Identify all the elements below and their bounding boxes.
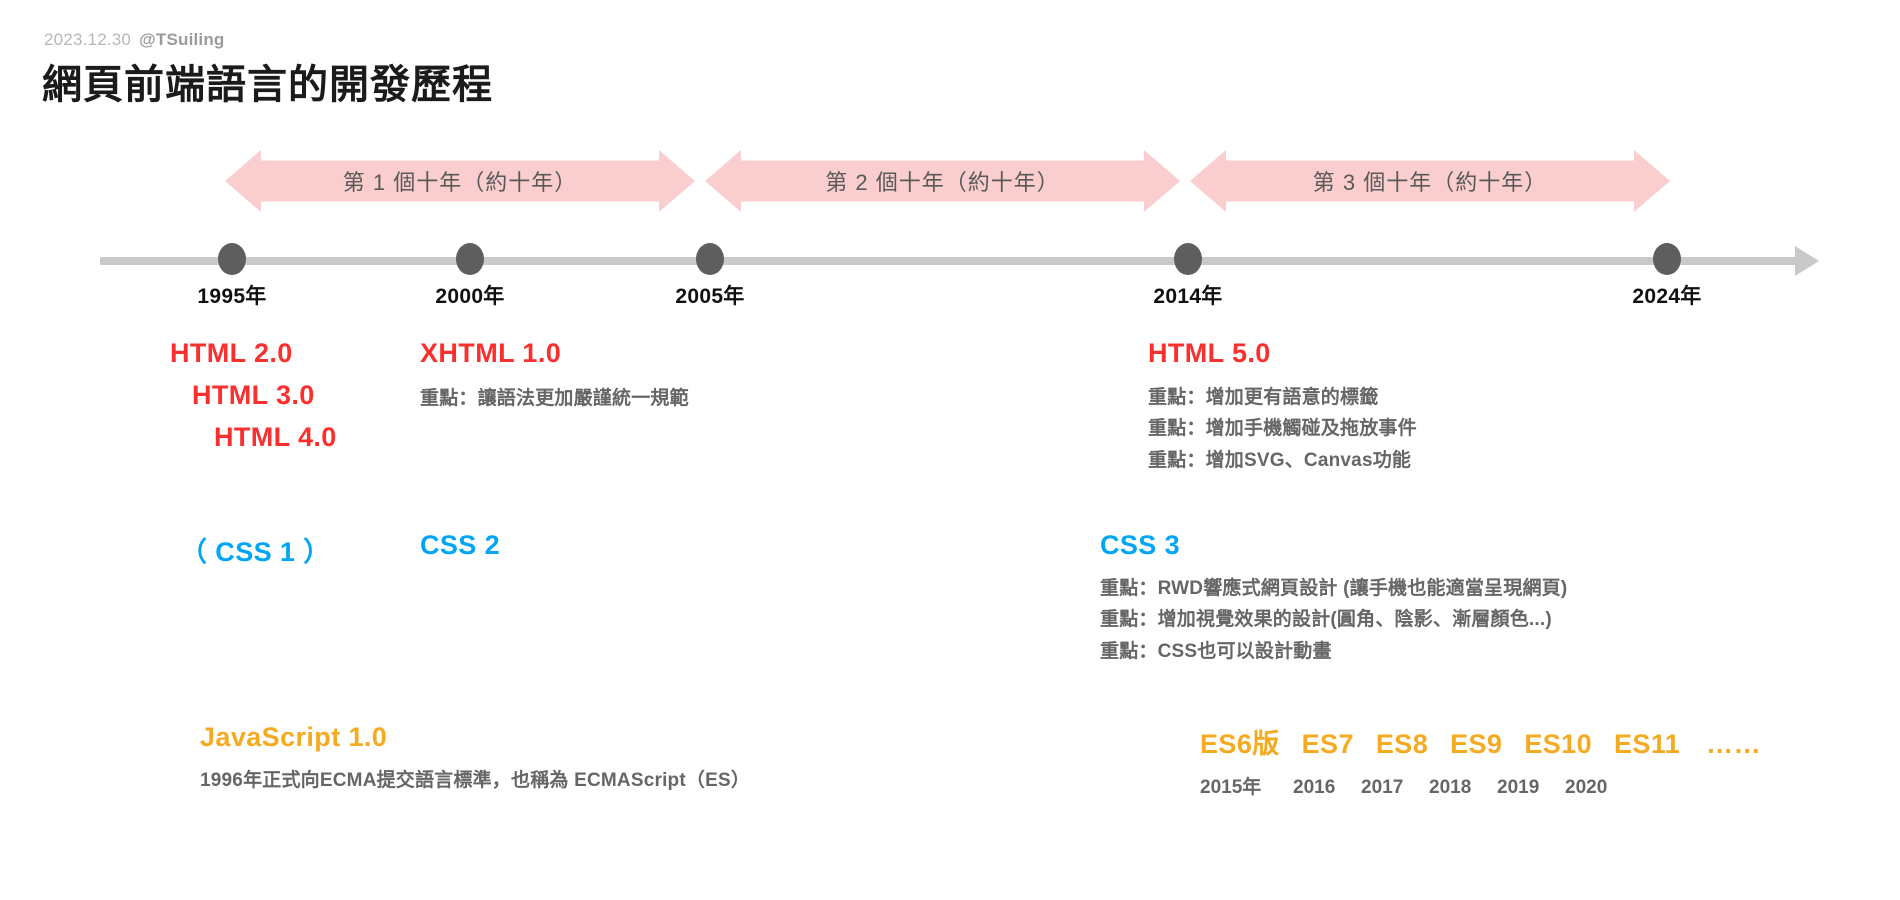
css3-detail-list: 重點：RWD響應式網頁設計 (讓手機也能適當呈現網頁)重點：增加視覺效果的設計(… [1100, 573, 1567, 667]
axis-dot-2024 [1653, 243, 1681, 275]
html5-detail: 重點：增加SVG、Canvas功能 [1148, 445, 1417, 476]
ecmascript-version-label: ES7 [1302, 729, 1354, 760]
decade-arrow-3: 第 3 個十年（約十年） [1190, 150, 1670, 212]
ecmascript-version-label: ES6版 [1200, 722, 1280, 761]
axis-dot-2005 [696, 243, 724, 275]
axis-dot-2014 [1174, 243, 1202, 275]
axis-year-label: 2014年 [1153, 280, 1222, 310]
ecmascript-version-label: …… [1706, 729, 1761, 760]
decade-arrow-band: 第 1 個十年（約十年）第 2 個十年（約十年）第 3 個十年（約十年） [0, 150, 1900, 212]
axis-dot-1995 [218, 243, 246, 275]
css2-title: CSS 2 [420, 530, 500, 561]
css3-detail: 重點：CSS也可以設計動畫 [1100, 636, 1567, 667]
html5-title: HTML 5.0 [1148, 338, 1417, 369]
ecmascript-year-label: 2016 [1293, 777, 1361, 799]
html5-detail: 重點：增加手機觸碰及拖放事件 [1148, 413, 1417, 444]
html5-block: HTML 5.0 重點：增加更有語意的標籤重點：增加手機觸碰及拖放事件重點：增加… [1148, 338, 1417, 476]
javascript-detail: 1996年正式向ECMA提交語言標準，也稱為 ECMAScript（ES） [200, 765, 750, 796]
ecmascript-year-label: 2020 [1565, 777, 1633, 799]
javascript-title: JavaScript 1.0 [200, 722, 750, 753]
css3-detail: 重點：RWD響應式網頁設計 (讓手機也能適當呈現網頁) [1100, 573, 1567, 604]
html-version-label: HTML 2.0 [170, 338, 337, 369]
axis-line [100, 257, 1800, 265]
javascript-block: JavaScript 1.0 1996年正式向ECMA提交語言標準，也稱為 EC… [200, 722, 750, 796]
axis-year-label: 2000年 [435, 280, 504, 310]
publish-date: 2023.12.30 [44, 30, 131, 49]
html5-detail: 重點：增加更有語意的標籤 [1148, 382, 1417, 413]
ecmascript-version-label: ES8 [1376, 729, 1428, 760]
xhtml-title: XHTML 1.0 [420, 338, 689, 369]
css3-detail: 重點：增加視覺效果的設計(圓角、陰影、漸層顏色...) [1100, 604, 1567, 635]
ecmascript-year-label: 2015年 [1200, 772, 1293, 799]
css1-block: （ CSS 1 ） [180, 530, 331, 569]
axis-year-label: 2005年 [675, 280, 744, 310]
css2-block: CSS 2 [420, 530, 500, 561]
css1-title: （ CSS 1 ） [180, 530, 331, 569]
axis-year-label: 1995年 [197, 280, 266, 310]
ecmascript-block: ES6版ES7ES8ES9ES10ES11…… 2015年20162017201… [1200, 722, 1761, 799]
axis-year-label: 2024年 [1632, 280, 1701, 310]
ecmascript-year-label: 2019 [1497, 777, 1565, 799]
header-meta: 2023.12.30@TSuiling [44, 30, 225, 50]
css3-title: CSS 3 [1100, 530, 1567, 561]
axis-arrow-icon [1795, 246, 1819, 276]
html-early-versions-block: HTML 2.0HTML 3.0HTML 4.0 [170, 338, 337, 464]
xhtml-detail: 重點：讓語法更加嚴謹統一規範 [420, 383, 689, 414]
ecmascript-version-label: ES10 [1524, 729, 1592, 760]
decade-arrow-2: 第 2 個十年（約十年） [705, 150, 1180, 212]
decade-label: 第 2 個十年（約十年） [825, 165, 1059, 197]
timeline-axis: 1995年2000年2005年2014年2024年 [0, 248, 1900, 308]
html-version-label: HTML 4.0 [214, 422, 337, 453]
decade-label: 第 3 個十年（約十年） [1313, 165, 1547, 197]
ecmascript-year-label: 2018 [1429, 777, 1497, 799]
author-handle: @TSuiling [139, 30, 224, 49]
html-version-label: HTML 3.0 [192, 380, 337, 411]
axis-dot-2000 [456, 243, 484, 275]
ecmascript-version-label: ES9 [1450, 729, 1502, 760]
decade-label: 第 1 個十年（約十年） [343, 165, 577, 197]
html5-detail-list: 重點：增加更有語意的標籤重點：增加手機觸碰及拖放事件重點：增加SVG、Canva… [1148, 382, 1417, 476]
page-title: 網頁前端語言的開發歷程 [42, 52, 493, 110]
xhtml-block: XHTML 1.0 重點：讓語法更加嚴謹統一規範 [420, 338, 689, 414]
ecmascript-version-row: ES6版ES7ES8ES9ES10ES11…… [1200, 722, 1761, 761]
ecmascript-year-row: 2015年20162017201820192020 [1200, 772, 1761, 799]
decade-arrow-1: 第 1 個十年（約十年） [225, 150, 695, 212]
ecmascript-year-label: 2017 [1361, 777, 1429, 799]
css3-block: CSS 3 重點：RWD響應式網頁設計 (讓手機也能適當呈現網頁)重點：增加視覺… [1100, 530, 1567, 667]
ecmascript-version-label: ES11 [1614, 729, 1680, 760]
